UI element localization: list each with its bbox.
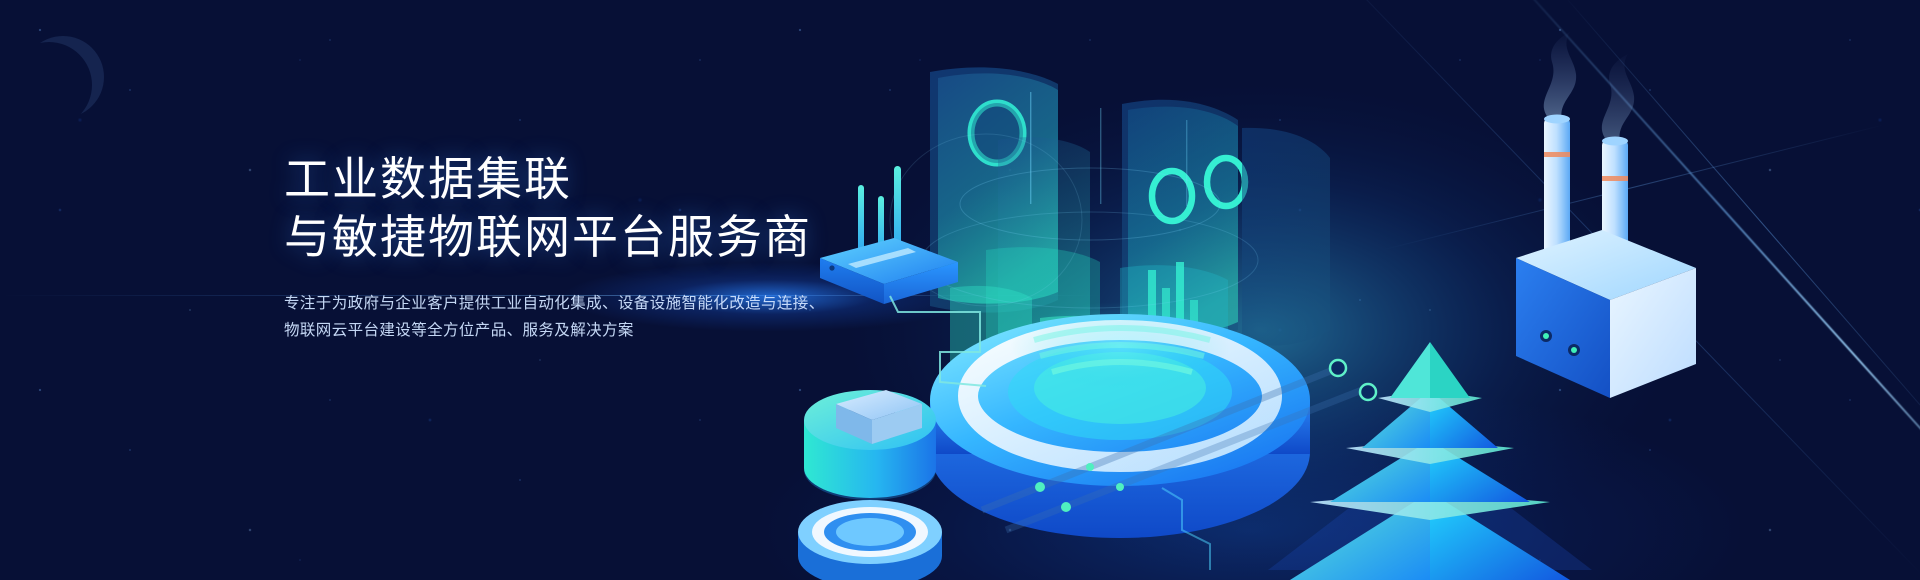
disc-top-glow (1010, 302, 1230, 390)
beam-node-3 (1061, 502, 1071, 512)
tower-antenna-3 (1186, 120, 1187, 206)
subheadline-line-1: 专注于为政府与企业客户提供工业自动化集成、设备设施智能化改造与连接、 (284, 290, 924, 317)
subheadline-line-2: 物联网云平台建设等全方位产品、服务及解决方案 (284, 317, 924, 344)
hero-copy: 工业数据集联 与敏捷物联网平台服务商 专注于为政府与企业客户提供工业自动化集成、… (284, 150, 924, 344)
tower-antenna-2 (1100, 108, 1101, 204)
ring-base (798, 500, 942, 580)
smoke-plume-right (1602, 54, 1634, 142)
moon-arc-icon (22, 36, 104, 118)
smokestack-right-rim (1602, 137, 1628, 146)
smokestack-left (1544, 118, 1570, 260)
headline-line-1: 工业数据集联 (284, 150, 924, 208)
ring-base-core (836, 518, 904, 546)
tower-antenna-1 (1030, 92, 1031, 204)
hero-banner: 工业数据集联 与敏捷物联网平台服务商 专注于为政府与企业客户提供工业自动化集成、… (0, 0, 1920, 580)
smoke-plume-left (1544, 32, 1576, 120)
isometric-illustration (790, 0, 1920, 580)
beam-node-2 (1086, 463, 1094, 471)
donut-chart-cylinder (804, 390, 936, 500)
headline-line-2: 与敏捷物联网平台服务商 (284, 208, 924, 266)
smokestack-left-rim (1544, 115, 1570, 124)
tower-panel-right (1242, 128, 1330, 346)
beam-endpoint-1 (1330, 360, 1346, 376)
beam-endpoint-2 (1360, 384, 1376, 400)
beam-node-4 (1116, 483, 1124, 491)
smokestack-right-band (1602, 176, 1628, 181)
beam-node-1 (1035, 482, 1045, 492)
smokestack-left-band (1544, 152, 1570, 157)
